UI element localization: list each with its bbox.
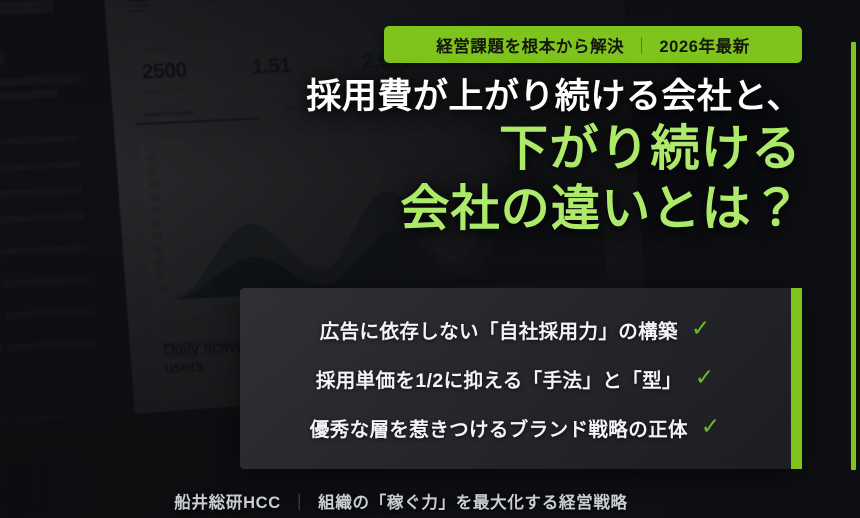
footer-separator: ｜ [291,489,308,513]
benefits-list: 広告に依存しない「自社採用力」の構築 ✓ 採用単価を1/2に抑える「手法」と「型… [240,288,780,469]
right-edge-accent-bar [851,42,856,470]
footer-tagline: 組織の「稼ぐ力」を最大化する経営戦略 [318,489,628,513]
promo-banner: Total Users 2500 5% From Last Week Avera… [0,0,860,518]
list-item: 優秀な層を惹きつけるブランド戦略の正体 ✓ [258,413,772,442]
headline-line-3: 会社の違いとは？ [306,180,802,240]
panel-accent-bar [791,288,802,469]
footer-brand: 船井総研HCC [174,489,281,513]
headline-block: 採用費が上がり続ける会社と、 下がり続ける 会社の違いとは？ [306,74,802,240]
headline-line-1: 採用費が上がり続ける会社と、 [306,74,802,120]
benefit-label: 広告に依存しない「自社採用力」の構築 [320,315,678,344]
footer-text-row: 船井総研HCC ｜ 組織の「稼ぐ力」を最大化する経営戦略 [174,489,627,513]
headline-line-2: 下がり続ける [306,120,802,180]
badge-year: 2026年最新 [659,33,749,57]
list-item: 広告に依存しない「自社採用力」の構築 ✓ [258,315,772,344]
check-icon: ✓ [701,415,720,438]
badge-headline: 経営課題を根本から解決 [436,33,624,57]
benefit-label: 優秀な層を惹きつけるブランド戦略の正体 [310,413,688,442]
footer: 船井総研HCC ｜ 組織の「稼ぐ力」を最大化する経営戦略 [0,489,860,513]
badge-text-row: 経営課題を根本から解決 ｜ 2026年最新 [436,33,750,57]
check-icon: ✓ [691,317,710,340]
list-item: 採用単価を1/2に抑える「手法」と「型」 ✓ [258,364,772,393]
benefit-label: 採用単価を1/2に抑える「手法」と「型」 [316,364,682,393]
check-icon: ✓ [695,366,714,389]
benefits-panel: 広告に依存しない「自社採用力」の構築 ✓ 採用単価を1/2に抑える「手法」と「型… [240,288,802,469]
badge-separator: ｜ [633,33,650,57]
eyebrow-badge: 経営課題を根本から解決 ｜ 2026年最新 [384,26,802,63]
